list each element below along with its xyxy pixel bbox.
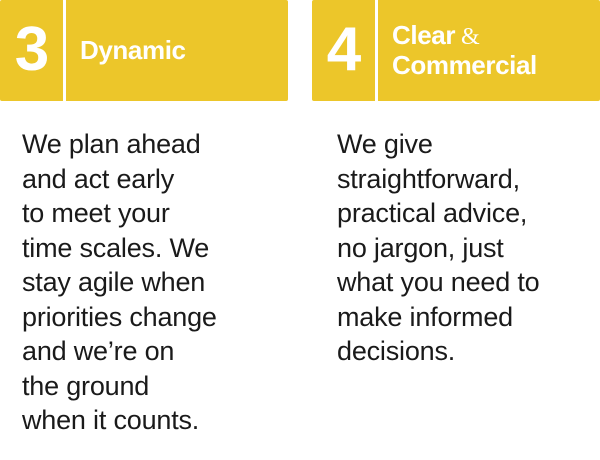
body-line: We plan ahead: [22, 127, 280, 162]
card-title-word-clear: Clear: [392, 20, 455, 50]
body-line: stay agile when: [22, 265, 280, 300]
card-title-line-4-2: Commercial: [392, 51, 592, 80]
card-number-cell-3: 3: [0, 0, 63, 101]
body-line: practical advice,: [337, 196, 592, 231]
card-header-3: 3 Dynamic: [0, 0, 288, 101]
value-cards-board: 3 Dynamic We plan ahead and act early to…: [0, 0, 600, 460]
body-line: We give: [337, 127, 592, 162]
body-line: straightforward,: [337, 162, 592, 197]
value-card-3: 3 Dynamic We plan ahead and act early to…: [0, 0, 288, 460]
card-number-4: 4: [327, 19, 360, 83]
body-line: to meet your: [22, 196, 280, 231]
card-number-3: 3: [15, 19, 48, 83]
body-line: and act early: [22, 162, 280, 197]
value-card-4: 4 Clear & Commercial We give straightfor…: [312, 0, 600, 460]
body-line: the ground: [22, 369, 280, 404]
body-line: priorities change: [22, 300, 280, 335]
body-line: and we’re on: [22, 334, 280, 369]
card-header-4: 4 Clear & Commercial: [312, 0, 600, 101]
card-body-4: We give straightforward, practical advic…: [312, 127, 600, 369]
body-line: make informed: [337, 300, 592, 335]
card-number-cell-4: 4: [312, 0, 375, 101]
body-line: time scales. We: [22, 231, 280, 266]
body-line: what you need to: [337, 265, 592, 300]
card-title-cell-4: Clear & Commercial: [378, 0, 600, 101]
card-title-line-3-1: Dynamic: [80, 36, 280, 65]
body-line: decisions.: [337, 334, 592, 369]
card-title-cell-3: Dynamic: [66, 0, 288, 101]
card-title-line-4-1: Clear &: [392, 21, 592, 51]
body-line: no jargon, just: [337, 231, 592, 266]
ampersand-glyph: &: [455, 24, 480, 50]
card-body-3: We plan ahead and act early to meet your…: [0, 127, 288, 438]
body-line: when it counts.: [22, 403, 280, 438]
